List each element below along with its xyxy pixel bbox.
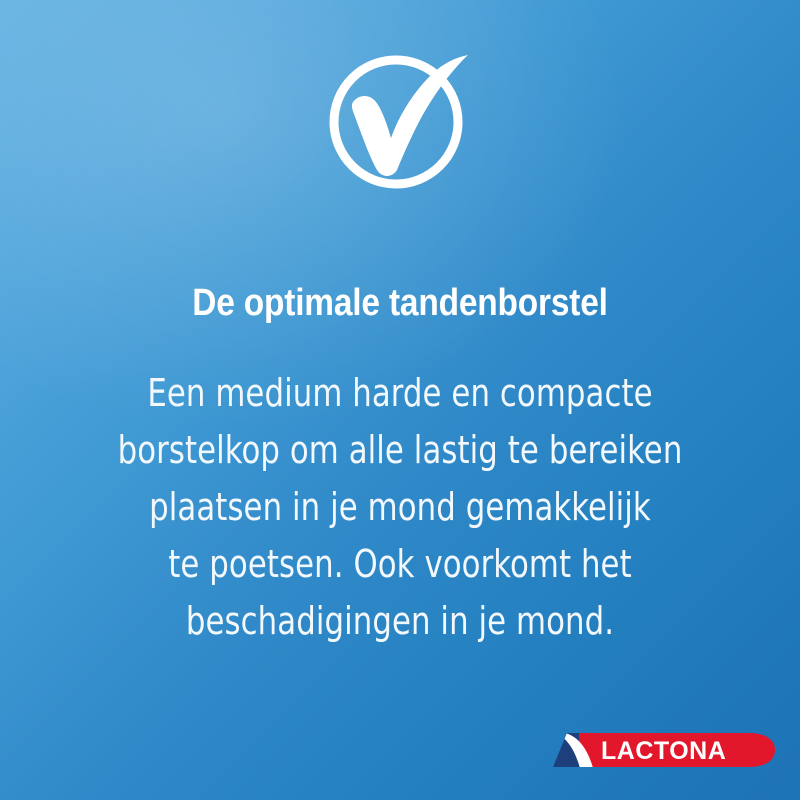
body-copy: Een medium harde en compacte borstelkop …: [0, 365, 800, 650]
page-title: De optimale tandenborstel: [48, 282, 752, 324]
body-line: beschadigingen in je mond.: [40, 593, 760, 650]
body-line: plaatsen in je mond gemakkelijk: [40, 479, 760, 536]
logo-wordmark: LACTONA: [601, 737, 726, 765]
check-circle-icon: [326, 44, 476, 194]
body-line: borstelkop om alle lastig te bereiken: [40, 422, 760, 479]
body-line: Een medium harde en compacte: [40, 365, 760, 422]
lactona-logo: LACTONA: [553, 731, 777, 769]
product-benefit-card: De optimale tandenborstel Een medium har…: [0, 0, 800, 800]
body-line: te poetsen. Ook voorkomt het: [40, 536, 760, 593]
